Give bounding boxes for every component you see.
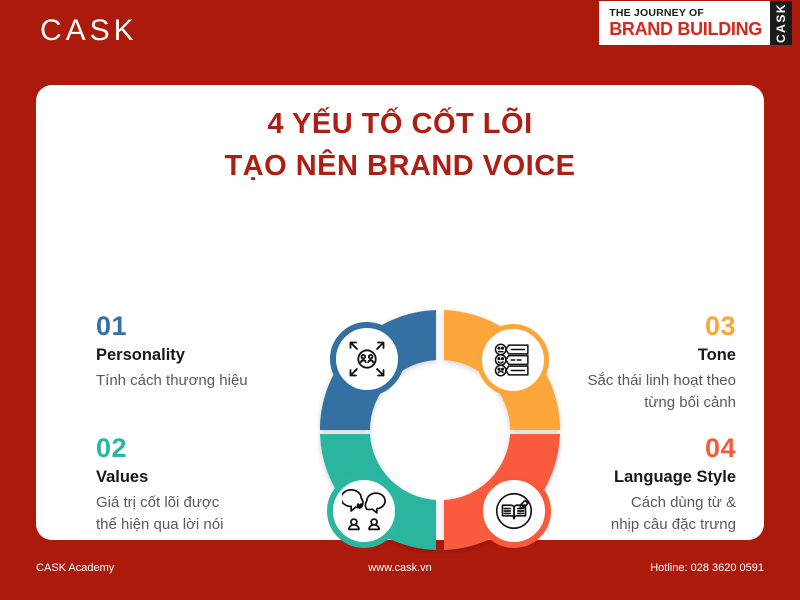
item-desc-tone: Sắc thái linh hoạt theo từng bối cảnh: [504, 370, 736, 414]
item-desc-values: Giá trị cốt lõi được thể hiện qua lời nó…: [96, 492, 328, 536]
item-desc-language-style: Cách dùng từ & nhịp câu đặc trưng: [504, 492, 736, 536]
cask-logo: CASK: [40, 14, 138, 48]
item-title-language-style: Language Style: [504, 465, 736, 490]
content-card: 4 YẾU TỐ CỐT LÕI TẠO NÊN BRAND VOICE: [36, 85, 764, 540]
item-tone: 03 Tone Sắc thái linh hoạt theo từng bối…: [504, 311, 736, 413]
journey-of-brand-building-badge: THE JOURNEY OF BRAND BUILDING CASK: [599, 1, 792, 45]
item-values: 02 Values Giá trị cốt lõi được thể hiện …: [96, 433, 328, 535]
item-language-style: 04 Language Style Cách dùng từ & nhịp câ…: [504, 433, 736, 535]
badge-text-block: THE JOURNEY OF BRAND BUILDING: [599, 1, 770, 45]
item-title-values: Values: [96, 465, 328, 490]
badge-line-2: BRAND BUILDING: [609, 20, 762, 39]
item-title-personality: Personality: [96, 343, 328, 368]
badge-strip-label: CASK: [774, 3, 788, 43]
icon-badge-personality[interactable]: [330, 322, 404, 396]
title-line-1: 4 YẾU TỐ CỐT LÕI: [36, 103, 764, 145]
speech-bubble-heart-icon: [342, 489, 386, 533]
item-number-01: 01: [96, 311, 328, 342]
item-title-tone: Tone: [504, 343, 736, 368]
item-desc-personality: Tính cách thương hiệu: [96, 370, 328, 392]
badge-vertical-strip: CASK: [770, 1, 792, 45]
item-number-04: 04: [504, 433, 736, 464]
people-expand-icon: [345, 337, 389, 381]
item-number-02: 02: [96, 433, 328, 464]
icon-badge-values[interactable]: [327, 474, 401, 548]
item-number-03: 03: [504, 311, 736, 342]
page-title: 4 YẾU TỐ CỐT LÕI TẠO NÊN BRAND VOICE: [36, 103, 764, 187]
footer-hotline: Hotline: 028 3620 0591: [650, 562, 764, 574]
top-bar: CASK THE JOURNEY OF BRAND BUILDING CASK: [0, 0, 800, 85]
title-line-2: TẠO NÊN BRAND VOICE: [36, 145, 764, 187]
footer: CASK Academy www.cask.vn Hotline: 028 36…: [0, 540, 800, 600]
item-personality: 01 Personality Tính cách thương hiệu: [96, 311, 328, 392]
